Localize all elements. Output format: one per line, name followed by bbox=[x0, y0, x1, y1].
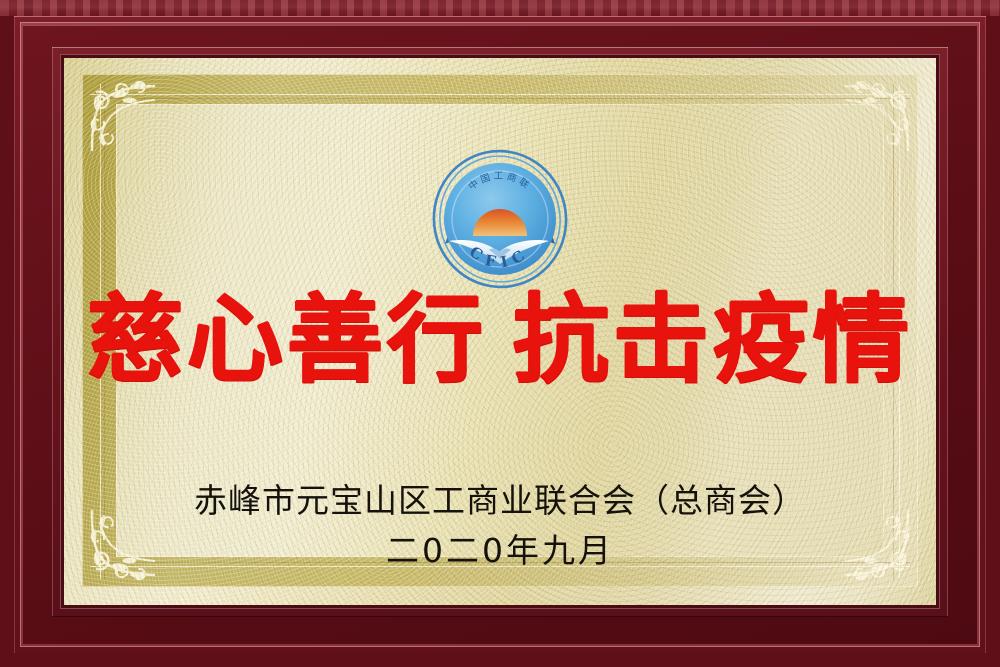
issuing-organization: 赤峰市元宝山区工商业联合会（总商会） bbox=[0, 474, 1000, 522]
plaque-content: 中国工商联 CFIC 慈心善行抗击疫情 赤峰市元宝山区工商业联合会（总商会） 二… bbox=[0, 0, 1000, 667]
award-plaque: 中国工商联 CFIC 慈心善行抗击疫情 赤峰市元宝山区工商业联合会（总商会） 二… bbox=[0, 0, 1000, 667]
title-part-2: 抗击疫情 bbox=[513, 283, 913, 396]
title-part-1: 慈心善行 bbox=[87, 283, 487, 396]
cfic-emblem-icon: 中国工商联 CFIC bbox=[427, 146, 573, 292]
issue-date: 二0二0年九月 bbox=[0, 524, 1000, 572]
emblem-container: 中国工商联 CFIC bbox=[0, 146, 1000, 292]
plaque-title: 慈心善行抗击疫情 bbox=[0, 288, 1000, 392]
